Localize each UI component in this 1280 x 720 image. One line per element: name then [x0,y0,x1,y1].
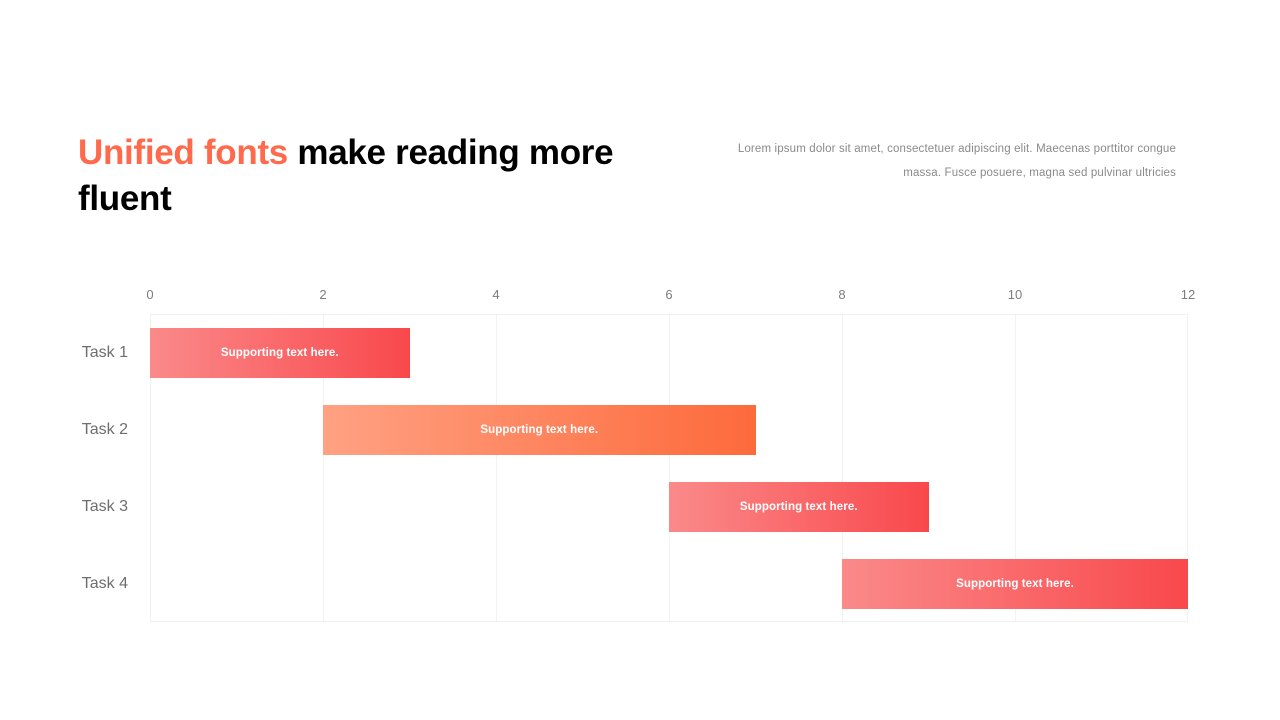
x-axis-tick-label: 6 [665,287,672,302]
x-axis-tick-label: 2 [319,287,326,302]
x-axis-tick-label: 8 [838,287,845,302]
gantt-bar-label: Supporting text here. [221,347,339,359]
task-row-label: Task 4 [0,575,128,593]
x-axis-tick-label: 12 [1181,287,1195,302]
slide-header: Unified fonts make reading more fluent L… [0,130,1280,240]
gridline [669,314,670,622]
gantt-bar[interactable]: Supporting text here. [669,482,929,532]
gantt-bar[interactable]: Supporting text here. [150,328,410,378]
gantt-bar[interactable]: Supporting text here. [842,559,1188,609]
task-row-label: Task 2 [0,421,128,439]
x-axis-tick-label: 4 [492,287,499,302]
gantt-chart: 024681012 Task 1Supporting text here.Tas… [150,314,1188,622]
gantt-bar-label: Supporting text here. [480,424,598,436]
page-title: Unified fonts make reading more fluent [78,130,638,222]
x-axis-tick-label: 10 [1008,287,1022,302]
gantt-bar-label: Supporting text here. [956,578,1074,590]
x-axis-tick-label: 0 [146,287,153,302]
gantt-bar[interactable]: Supporting text here. [323,405,756,455]
gridline [496,314,497,622]
intro-paragraph: Lorem ipsum dolor sit amet, consectetuer… [700,138,1176,185]
task-row-label: Task 1 [0,344,128,362]
gantt-bar-label: Supporting text here. [740,501,858,513]
page-title-accent: Unified fonts [78,133,288,172]
slide-canvas: Unified fonts make reading more fluent L… [0,0,1280,720]
task-row-label: Task 3 [0,498,128,516]
